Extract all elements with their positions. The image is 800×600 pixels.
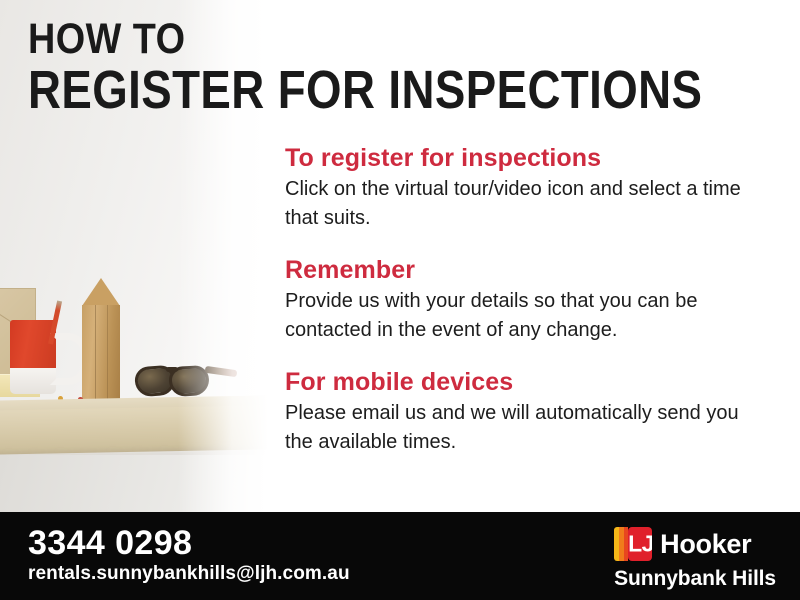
instruction-body: Please email us and we will automaticall… [285, 399, 765, 457]
house-roof [82, 278, 120, 306]
instruction-body: Provide us with your details so that you… [285, 287, 765, 345]
footer-contact: 3344 0298 rentals.sunnybankhills@ljh.com… [28, 524, 350, 586]
instructions-content: To register for inspections Click on the… [285, 143, 765, 457]
ljhooker-logo-icon: LJ [614, 527, 652, 561]
logo-red-square: LJ [628, 527, 652, 561]
poster-canvas: HOW TO REGISTER FOR INSPECTIONS To regis… [0, 0, 800, 600]
office-name: Sunnybank Hills [614, 566, 776, 592]
logo-monogram: LJ [628, 533, 652, 556]
instruction-block: For mobile devices Please email us and w… [285, 367, 765, 457]
email-address[interactable]: rentals.sunnybankhills@ljh.com.au [28, 562, 350, 586]
ljhooker-logo: LJ Hooker [614, 526, 776, 562]
brand-block: LJ Hooker Sunnybank Hills [614, 526, 776, 592]
footer-bar: 3344 0298 rentals.sunnybankhills@ljh.com… [0, 512, 800, 600]
instruction-heading: For mobile devices [285, 367, 765, 397]
logo-wordmark: Hooker [660, 529, 751, 559]
headline-line-2: REGISTER FOR INSPECTIONS [28, 62, 702, 118]
instruction-block: Remember Provide us with your details so… [285, 255, 765, 345]
sunglasses-bridge [166, 367, 178, 372]
phone-number[interactable]: 3344 0298 [28, 524, 350, 562]
instruction-heading: Remember [285, 255, 765, 285]
house-body [82, 305, 120, 400]
instruction-heading: To register for inspections [285, 143, 765, 173]
instruction-block: To register for inspections Click on the… [285, 143, 765, 233]
page-title: HOW TO REGISTER FOR INSPECTIONS [28, 16, 800, 118]
headline-line-1: HOW TO [28, 16, 730, 62]
wooden-house-ornament [82, 278, 120, 400]
instruction-body: Click on the virtual tour/video icon and… [285, 175, 765, 233]
